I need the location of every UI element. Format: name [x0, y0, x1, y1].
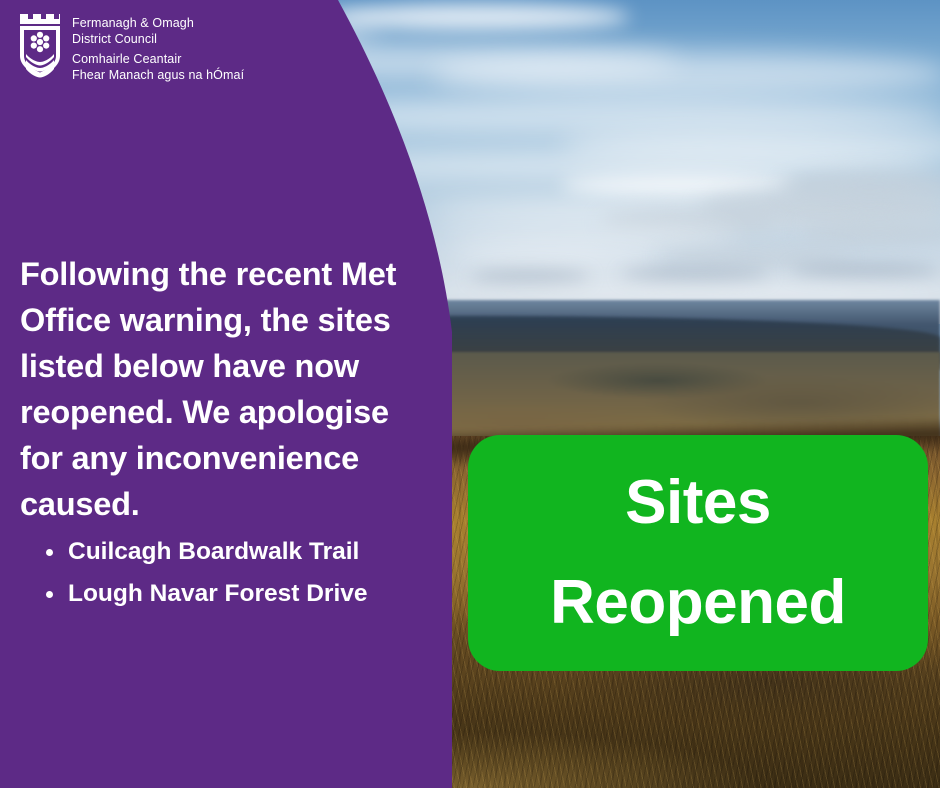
status-badge: Sites Reopened	[468, 435, 928, 671]
logo-line-ga-2: Fhear Manach agus na hÓmaí	[72, 68, 244, 84]
list-item: Cuilcagh Boardwalk Trail	[68, 532, 458, 572]
headline-text: Following the recent Met Office warning,…	[20, 251, 418, 527]
site-list: Cuilcagh Boardwalk Trail Lough Navar For…	[36, 532, 458, 616]
social-media-poster: Fermanagh & Omagh District Council Comha…	[0, 0, 940, 788]
logo-line-en-1: Fermanagh & Omagh	[72, 16, 244, 32]
status-badge-line-2: Reopened	[550, 553, 846, 653]
logo-line-ga-1: Comhairle Ceantair	[72, 52, 244, 68]
council-logo: Fermanagh & Omagh District Council Comha…	[18, 14, 244, 83]
council-shield-crest-icon	[18, 14, 62, 80]
logo-line-en-2: District Council	[72, 32, 244, 48]
council-logo-text: Fermanagh & Omagh District Council Comha…	[72, 14, 244, 83]
list-item: Lough Navar Forest Drive	[68, 574, 458, 614]
status-badge-line-1: Sites	[625, 453, 771, 553]
